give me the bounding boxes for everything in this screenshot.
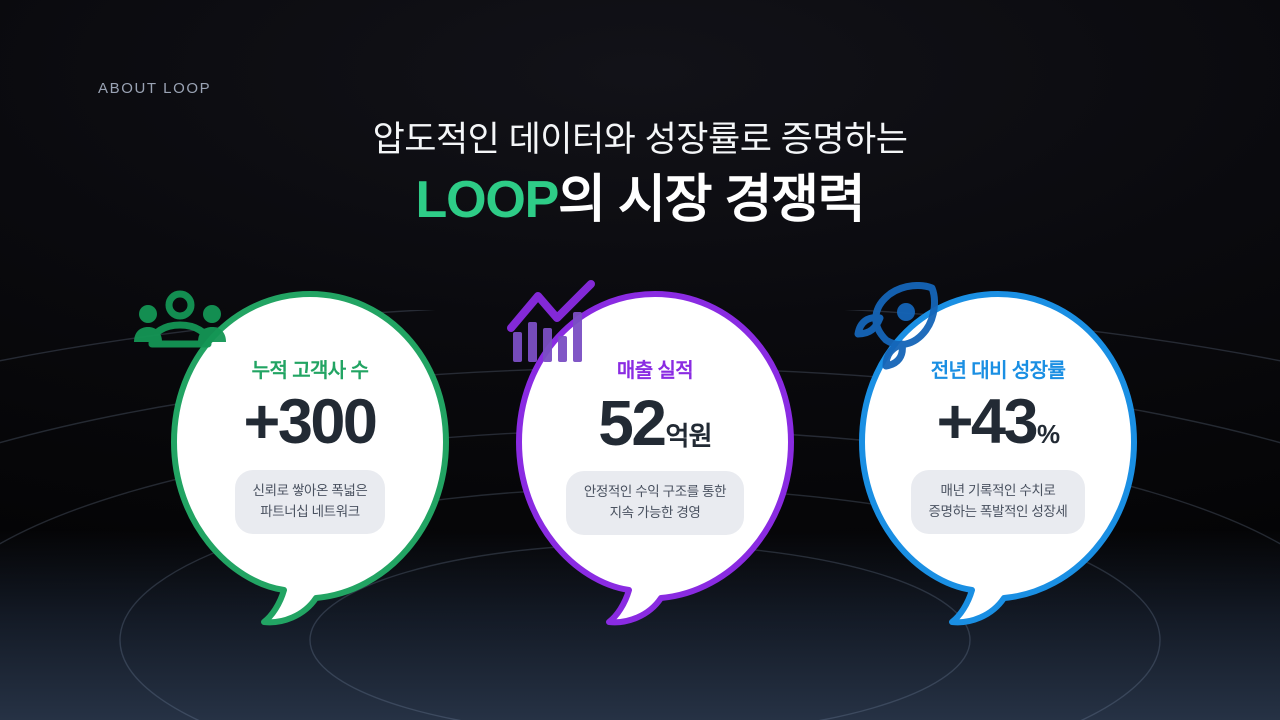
description-line-2: 파트너십 네트워크 — [253, 502, 368, 523]
stat-card-title: 전년 대비 성장률 — [931, 354, 1066, 383]
stat-card-growth[interactable]: 전년 대비 성장률 +43 % 매년 기록적인 수치로 증명하는 폭발적인 성장… — [848, 292, 1148, 622]
description-line-1: 매년 기록적인 수치로 — [929, 481, 1068, 502]
stat-value-number: +300 — [244, 391, 376, 454]
page-title: 압도적인 데이터와 성장률로 증명하는 LOOP의 시장 경쟁력 — [0, 118, 1280, 232]
stat-card-body: 누적 고객사 수 +300 신뢰로 쌓아온 폭넓은 파트너십 네트워크 — [160, 292, 460, 592]
description-line-2: 증명하는 폭발적인 성장세 — [929, 502, 1068, 523]
stat-card-customers[interactable]: 누적 고객사 수 +300 신뢰로 쌓아온 폭넓은 파트너십 네트워크 — [160, 292, 460, 622]
slide-stage: ABOUT LOOP 압도적인 데이터와 성장률로 증명하는 LOOP의 시장 … — [0, 0, 1280, 720]
stat-card-description: 안정적인 수익 구조를 통한 지속 가능한 경영 — [566, 471, 744, 535]
eyebrow-label: ABOUT LOOP — [98, 80, 211, 97]
stat-card-title: 누적 고객사 수 — [252, 354, 369, 383]
description-line-2: 지속 가능한 경영 — [584, 503, 726, 524]
description-line-1: 안정적인 수익 구조를 통한 — [584, 482, 726, 503]
stat-card-body: 전년 대비 성장률 +43 % 매년 기록적인 수치로 증명하는 폭발적인 성장… — [848, 292, 1148, 592]
stat-card-title: 매출 실적 — [617, 354, 693, 383]
stats-card-group: 누적 고객사 수 +300 신뢰로 쌓아온 폭넓은 파트너십 네트워크 — [0, 292, 1280, 632]
stat-value-unit: 억원 — [665, 423, 711, 449]
stat-card-value: +300 — [244, 391, 377, 454]
stat-card-value: 52 억원 — [598, 391, 711, 455]
stat-value-number: +43 — [937, 391, 1036, 454]
stat-value-unit: % — [1037, 421, 1059, 447]
stat-value-number: 52 — [598, 391, 664, 455]
headline-line-2: LOOP의 시장 경쟁력 — [0, 168, 1280, 232]
stat-card-description: 매년 기록적인 수치로 증명하는 폭발적인 성장세 — [911, 470, 1086, 534]
headline-line-1: 압도적인 데이터와 성장률로 증명하는 — [0, 118, 1280, 162]
headline-line-2-rest: 의 시장 경쟁력 — [558, 171, 864, 229]
stat-card-value: +43 % — [937, 391, 1060, 454]
stat-card-revenue[interactable]: 매출 실적 52 억원 안정적인 수익 구조를 통한 지속 가능한 경영 — [505, 292, 805, 622]
description-line-1: 신뢰로 쌓아온 폭넓은 — [253, 481, 368, 502]
stat-card-body: 매출 실적 52 억원 안정적인 수익 구조를 통한 지속 가능한 경영 — [505, 292, 805, 592]
stat-card-description: 신뢰로 쌓아온 폭넓은 파트너십 네트워크 — [235, 470, 386, 534]
brand-name: LOOP — [416, 171, 559, 229]
